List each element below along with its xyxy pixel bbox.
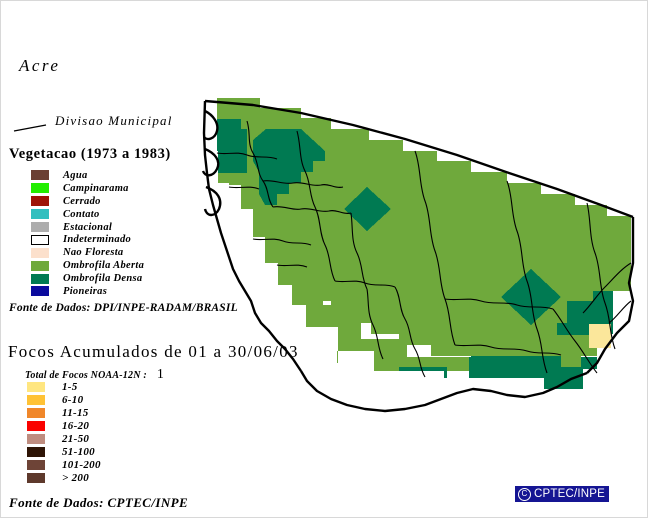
vegetation-legend: Agua Campinarama Cerrado Contato Estacio…	[31, 169, 144, 298]
swatch-focos-11-15	[27, 408, 45, 418]
legend-label-campinarama: Campinarama	[63, 183, 129, 194]
focos-label-21-50: 21-50	[62, 433, 89, 445]
swatch-contato	[31, 209, 49, 219]
swatch-focos-6-10	[27, 395, 45, 405]
swatch-estacional	[31, 222, 49, 232]
swatch-pioneiras	[31, 286, 49, 296]
swatch-ombrofila-aberta	[31, 261, 49, 271]
swatch-focos-1-5	[27, 382, 45, 392]
legend-label-pioneiras: Pioneiras	[63, 286, 107, 297]
focos-total-value: 1	[157, 367, 164, 383]
swatch-nao-floresta	[31, 248, 49, 258]
legend-item-agua[interactable]: Agua	[31, 169, 144, 182]
copyright-icon: C	[518, 488, 531, 501]
focos-legend-item-101-200[interactable]: 101-200	[27, 459, 101, 472]
legend-item-pioneiras[interactable]: Pioneiras	[31, 285, 144, 298]
focos-label-16-20: 16-20	[62, 420, 89, 432]
focos-legend-item-16-20[interactable]: 16-20	[27, 419, 101, 432]
focos-source-text: Fonte de Dados: CPTEC/INPE	[9, 495, 188, 511]
swatch-indeterminado	[31, 235, 49, 245]
focos-label-over-200: > 200	[62, 472, 89, 484]
legend-item-campinarama[interactable]: Campinarama	[31, 182, 144, 195]
swatch-focos-101-200	[27, 460, 45, 470]
focos-label-1-5: 1-5	[62, 381, 78, 393]
legend-item-cerrado[interactable]: Cerrado	[31, 195, 144, 208]
legend-label-cerrado: Cerrado	[63, 196, 101, 207]
diagonal-line-icon	[13, 124, 47, 132]
focos-legend: 1-5 6-10 11-15 16-20 21-50 51-100 101-20…	[27, 380, 101, 485]
legend-item-ombrofila-densa[interactable]: Ombrofila Densa	[31, 272, 144, 285]
swatch-focos-16-20	[27, 421, 45, 431]
focos-legend-item-over-200[interactable]: > 200	[27, 472, 101, 485]
cptec-inpe-badge[interactable]: C CPTEC/INPE	[515, 486, 609, 502]
legend-label-agua: Agua	[63, 170, 88, 181]
legend-label-ombrofila-aberta: Ombrofila Aberta	[63, 260, 144, 271]
legend-item-ombrofila-aberta[interactable]: Ombrofila Aberta	[31, 259, 144, 272]
focos-label-101-200: 101-200	[62, 459, 101, 471]
focos-label-6-10: 6-10	[62, 394, 83, 406]
focos-label-11-15: 11-15	[62, 407, 89, 419]
focos-label-51-100: 51-100	[62, 446, 95, 458]
swatch-focos-51-100	[27, 447, 45, 457]
vegetation-source-text: Fonte de Dados: DPI/INPE-RADAM/BRASIL	[9, 302, 238, 314]
legend-label-ombrofila-densa: Ombrofila Densa	[63, 273, 142, 284]
swatch-campinarama	[31, 183, 49, 193]
legend-item-estacional[interactable]: Estacional	[31, 221, 144, 234]
focos-title: Focos Acumulados de 01 a 30/06/03	[8, 342, 299, 362]
focos-legend-item-1-5[interactable]: 1-5	[27, 380, 101, 393]
legend-label-nao-floresta: Nao Floresta	[63, 247, 123, 258]
legend-item-contato[interactable]: Contato	[31, 208, 144, 221]
legend-label-contato: Contato	[63, 209, 100, 220]
legend-item-indeterminado[interactable]: Indeterminado	[31, 233, 144, 246]
swatch-focos-21-50	[27, 434, 45, 444]
vegetation-legend-title: Vegetacao (1973 a 1983)	[9, 146, 171, 163]
boundary-legend-row: Divisao Municipal	[11, 113, 231, 133]
focos-legend-item-11-15[interactable]: 11-15	[27, 406, 101, 419]
swatch-ombrofila-densa	[31, 274, 49, 284]
cptec-inpe-badge-label: CPTEC/INPE	[534, 488, 605, 500]
swatch-cerrado	[31, 196, 49, 206]
focos-legend-item-51-100[interactable]: 51-100	[27, 445, 101, 458]
page-title: Acre	[19, 56, 60, 76]
boundary-legend-label: Divisao Municipal	[55, 113, 173, 129]
focos-legend-item-6-10[interactable]: 6-10	[27, 393, 101, 406]
swatch-focos-over-200	[27, 473, 45, 483]
legend-label-indeterminado: Indeterminado	[63, 234, 131, 245]
map-page: Acre Divisao Municipal Vegetacao (1973 a…	[0, 0, 648, 518]
focos-legend-item-21-50[interactable]: 21-50	[27, 432, 101, 445]
legend-label-estacional: Estacional	[63, 222, 112, 233]
legend-item-nao-floresta[interactable]: Nao Floresta	[31, 246, 144, 259]
swatch-agua	[31, 170, 49, 180]
